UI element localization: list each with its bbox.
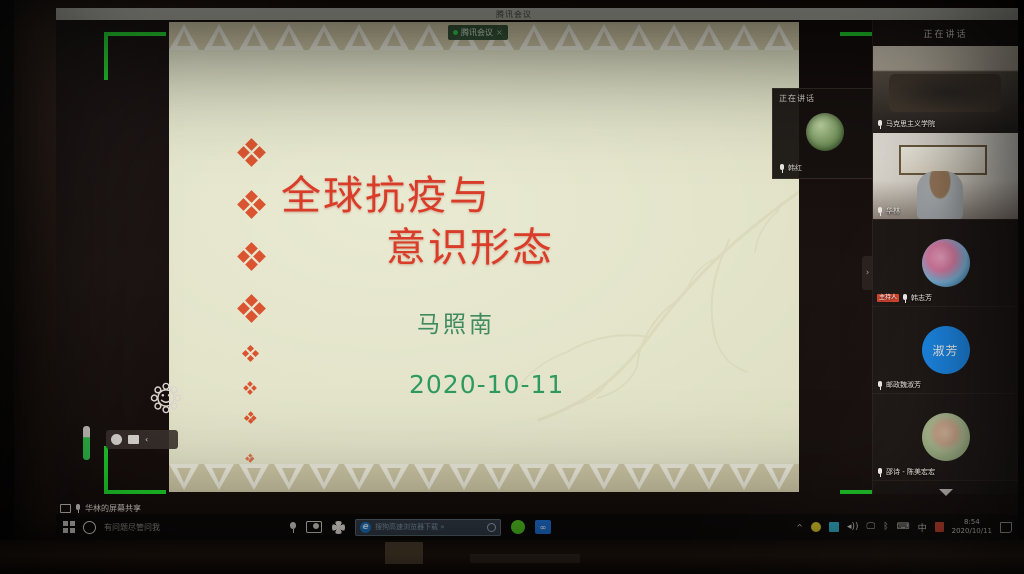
- diamond-bullet-7: [245, 412, 255, 422]
- taskbar-search-placeholder[interactable]: 有问题尽管问我: [104, 522, 160, 533]
- participant-name-row: 邵诗 - 陈美宏宏: [877, 467, 935, 477]
- participant-tile-5[interactable]: 邵诗 - 陈美宏宏: [873, 394, 1018, 481]
- clock-date: 2020/10/11: [952, 527, 992, 536]
- action-center-icon[interactable]: [1000, 522, 1012, 533]
- close-icon[interactable]: ×: [496, 28, 503, 37]
- active-speaker-name: 韩红: [788, 163, 802, 173]
- screen-share-label: 华林的屏幕共享: [85, 503, 141, 514]
- diamond-bullet-1: [239, 140, 263, 164]
- participant-tile-2[interactable]: 华林: [873, 133, 1018, 220]
- participant-avatar-flower: [922, 239, 970, 287]
- keyboard-icon[interactable]: ⌨: [897, 522, 910, 532]
- participants-header: 正在讲话: [873, 20, 1018, 46]
- slide-author: 马照南: [417, 305, 495, 339]
- participants-rail: 正在讲话 马克思主义学院: [872, 20, 1018, 494]
- network-icon[interactable]: 🖵: [867, 522, 876, 532]
- desk-plate: [470, 554, 580, 563]
- flower-smiley-icon[interactable]: [148, 380, 184, 416]
- slide-title-line1: 全球抗疫与: [281, 173, 491, 219]
- slide-title: 全球抗疫与 意识形态: [281, 170, 721, 274]
- slide-ornament-bottom: [169, 464, 799, 492]
- slide-date: 2020-10-11: [409, 370, 564, 399]
- share-status-bar: [83, 426, 90, 460]
- participant-name-row: 主持人 韩志芳: [877, 293, 932, 303]
- participant-name: 邮政魏淑芳: [886, 380, 921, 390]
- photographed-monitor-scene: 腾讯会议: [0, 0, 1024, 574]
- microphone-icon: [75, 504, 81, 513]
- internet-explorer-icon: e: [360, 522, 371, 533]
- host-badge: 主持人: [877, 294, 899, 302]
- collapse-arrow-icon[interactable]: ‹: [145, 435, 148, 444]
- snapshot-icon[interactable]: [128, 435, 139, 444]
- microphone-icon[interactable]: [290, 522, 296, 533]
- windows-start-icon[interactable]: [63, 521, 75, 533]
- meeting-tab-label: 腾讯会议: [461, 27, 493, 38]
- diamond-bullet-6: [244, 382, 256, 394]
- participant-tile-1[interactable]: 马克思主义学院: [873, 46, 1018, 133]
- wechat-icon[interactable]: [511, 520, 525, 534]
- chevron-up-icon[interactable]: ^: [796, 523, 803, 532]
- annotation-toolbar[interactable]: ‹: [106, 430, 178, 449]
- microphone-icon: [877, 207, 883, 216]
- participant-name-row: 邮政魏淑芳: [877, 380, 921, 390]
- desk-paper-note: [385, 542, 423, 564]
- desk-surface: [0, 540, 1024, 574]
- diamond-bullet-5: [243, 346, 257, 360]
- taskbar-left-group: 有问题尽管问我: [56, 521, 160, 534]
- participant-tile-4[interactable]: 淑芳 邮政魏淑芳: [873, 307, 1018, 394]
- participant-name: 华林: [886, 206, 900, 216]
- pen-icon[interactable]: [111, 434, 122, 445]
- blue-app-icon[interactable]: [829, 522, 839, 532]
- ie-address-text: 搜狗高速浏览器下载 »: [375, 522, 483, 532]
- slide-canvas: 全球抗疫与 意识形态 马照南 2020-10-11: [169, 22, 799, 492]
- search-icon[interactable]: [487, 523, 496, 532]
- share-frame-corner-top-left: [104, 32, 166, 80]
- monitor-icon: [60, 504, 71, 513]
- recording-dot-icon: [453, 30, 458, 35]
- microphone-icon: [877, 120, 883, 129]
- active-speaker-status: 正在讲话: [773, 89, 878, 110]
- system-tray: ^ ◂)) 🖵 ᛒ ⌨ 中 8:54 2020/10/11: [796, 518, 1018, 536]
- participant-name-row: 马克思主义学院: [877, 119, 935, 129]
- chevron-down-icon: [939, 489, 953, 496]
- slide-title-line2: 意识形态: [281, 222, 721, 274]
- diamond-bullet-8: [246, 454, 254, 462]
- yellow-shield-icon[interactable]: [811, 522, 821, 532]
- window-caption-title: 腾讯会议: [496, 9, 532, 20]
- flower-icon[interactable]: [332, 521, 345, 534]
- diamond-bullet-3: [239, 244, 263, 268]
- red-app-icon[interactable]: [935, 522, 944, 532]
- clock-time: 8:54: [952, 518, 992, 527]
- internet-explorer-address-bar[interactable]: e 搜狗高速浏览器下载 »: [355, 519, 501, 536]
- shared-powerpoint-area: 全球抗疫与 意识形态 马照南 2020-10-11: [169, 22, 799, 492]
- participant-tile-3[interactable]: 主持人 韩志芳: [873, 220, 1018, 307]
- cortana-circle-icon[interactable]: [83, 521, 96, 534]
- meeting-tab-pill[interactable]: 腾讯会议 ×: [448, 25, 508, 40]
- active-speaker-footer: 韩红: [779, 163, 802, 173]
- participant-avatar-photo: [922, 413, 970, 461]
- participant-name-row: 华林: [877, 206, 900, 216]
- windows-desktop: 腾讯会议: [56, 8, 1018, 540]
- monitor-display: 腾讯会议: [56, 8, 1018, 540]
- active-speaker-avatar: [806, 113, 844, 151]
- bluetooth-icon[interactable]: ᛒ: [883, 522, 888, 532]
- share-frame-corner-bottom-left: [104, 446, 166, 494]
- window-caption-bar: 腾讯会议: [56, 8, 1018, 20]
- ime-chinese-icon[interactable]: 中: [918, 521, 927, 534]
- screen-share-notice: 华林的屏幕共享: [60, 503, 141, 514]
- taskbar-clock[interactable]: 8:54 2020/10/11: [952, 518, 992, 536]
- participant-name: 韩志芳: [911, 293, 932, 303]
- microphone-icon: [779, 164, 785, 173]
- microphone-icon: [877, 468, 883, 477]
- monitor-bezel: 腾讯会议: [14, 0, 1016, 546]
- windows-taskbar: 有问题尽管问我 e 搜狗高速浏览器下载 » ∞: [56, 514, 1018, 540]
- taskbar-pinned-group: e 搜狗高速浏览器下载 » ∞: [290, 519, 551, 536]
- participant-avatar-initial: 淑芳: [922, 326, 970, 374]
- person-silhouette: [917, 171, 963, 219]
- tencent-meeting-icon[interactable]: ∞: [535, 520, 551, 534]
- participant-name: 马克思主义学院: [886, 119, 935, 129]
- microphone-icon: [877, 381, 883, 390]
- diamond-bullet-2: [239, 192, 263, 216]
- diamond-bullet-4: [239, 296, 263, 320]
- active-speaker-popup[interactable]: 正在讲话 韩红: [772, 88, 879, 179]
- participant-name: 邵诗 - 陈美宏宏: [886, 467, 935, 477]
- participants-scroll-down[interactable]: [873, 481, 1018, 503]
- task-view-icon[interactable]: [306, 521, 322, 533]
- rail-collapse-handle[interactable]: ›: [862, 256, 873, 290]
- microphone-icon: [902, 294, 908, 303]
- volume-icon[interactable]: ◂)): [847, 522, 859, 532]
